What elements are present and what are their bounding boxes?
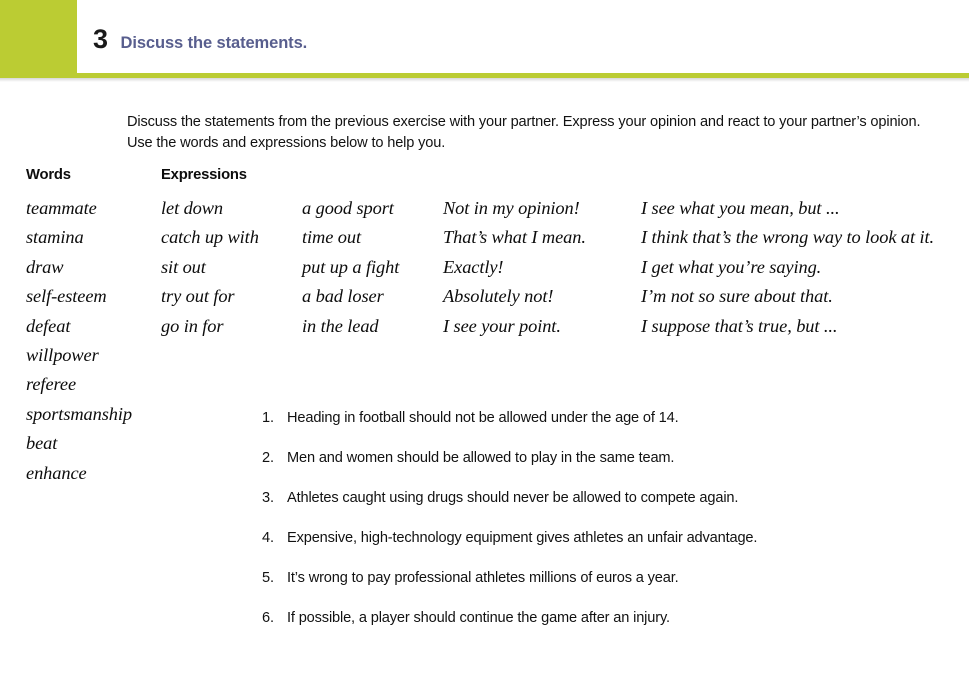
vocabulary-item: I think that’s the wrong way to look at … xyxy=(641,223,934,252)
vocabulary-item: I’m not so sure about that. xyxy=(641,282,934,311)
statement-text: Expensive, high-technology equipment giv… xyxy=(287,528,757,548)
vocabulary-item: referee xyxy=(26,370,132,399)
statement-text: It’s wrong to pay professional athletes … xyxy=(287,568,679,588)
vocabulary-item: teammate xyxy=(26,194,132,223)
statement-number: 4. xyxy=(262,528,287,548)
statement-text: If possible, a player should continue th… xyxy=(287,608,670,628)
vocabulary-item: I suppose that’s true, but ... xyxy=(641,312,934,341)
column-header-expressions: Expressions xyxy=(161,167,247,183)
vocabulary-item: Exactly! xyxy=(443,253,586,282)
vocabulary-column-expressions-1: let down catch up with sit out try out f… xyxy=(161,194,259,341)
vocabulary-column-words: teammate stamina draw self-esteem defeat… xyxy=(26,194,132,488)
vocabulary-item: enhance xyxy=(26,459,132,488)
vocabulary-item: sportsmanship xyxy=(26,400,132,429)
list-item: 3. Athletes caught using drugs should ne… xyxy=(262,488,969,528)
vocabulary-item: let down xyxy=(161,194,259,223)
column-header-words: Words xyxy=(26,167,71,183)
vocabulary-item: time out xyxy=(302,223,399,252)
exercise-heading: 3 Discuss the statements. xyxy=(93,24,307,55)
vocabulary-item: That’s what I mean. xyxy=(443,223,586,252)
vocabulary-item: sit out xyxy=(161,253,259,282)
statement-number: 2. xyxy=(262,448,287,468)
vocabulary-item: Not in my opinion! xyxy=(443,194,586,223)
green-accent-block xyxy=(0,0,77,73)
list-item: 2. Men and women should be allowed to pl… xyxy=(262,448,969,488)
statement-number: 6. xyxy=(262,608,287,628)
statement-number: 1. xyxy=(262,408,287,428)
vocabulary-column-expressions-4: I see what you mean, but ... I think tha… xyxy=(641,194,934,341)
vocabulary-item: try out for xyxy=(161,282,259,311)
list-item: 5. It’s wrong to pay professional athlet… xyxy=(262,568,969,608)
vocabulary-item: draw xyxy=(26,253,132,282)
statement-text: Heading in football should not be allowe… xyxy=(287,408,679,428)
statement-number: 5. xyxy=(262,568,287,588)
statements-list: 1. Heading in football should not be all… xyxy=(222,408,969,648)
vocabulary-item: a bad loser xyxy=(302,282,399,311)
vocabulary-item: go in for xyxy=(161,312,259,341)
vocabulary-item: I get what you’re saying. xyxy=(641,253,934,282)
vocabulary-item: beat xyxy=(26,429,132,458)
statement-number: 3. xyxy=(262,488,287,508)
vocabulary-item: self-esteem xyxy=(26,282,132,311)
vocabulary-column-expressions-3: Not in my opinion! That’s what I mean. E… xyxy=(443,194,586,341)
statement-text: Athletes caught using drugs should never… xyxy=(287,488,738,508)
statement-text: Men and women should be allowed to play … xyxy=(287,448,674,468)
vocabulary-item: I see your point. xyxy=(443,312,586,341)
vocabulary-item: catch up with xyxy=(161,223,259,252)
header-divider-shadow xyxy=(0,78,969,82)
vocabulary-item: Absolutely not! xyxy=(443,282,586,311)
list-item: 1. Heading in football should not be all… xyxy=(262,408,969,448)
exercise-number: 3 xyxy=(93,24,108,55)
exercise-title: Discuss the statements. xyxy=(121,34,308,53)
list-item: 6. If possible, a player should continue… xyxy=(262,608,969,648)
list-item: 4. Expensive, high-technology equipment … xyxy=(262,528,969,568)
vocabulary-item: I see what you mean, but ... xyxy=(641,194,934,223)
vocabulary-item: in the lead xyxy=(302,312,399,341)
vocabulary-item: defeat xyxy=(26,312,132,341)
vocabulary-item: stamina xyxy=(26,223,132,252)
exercise-header: 3 Discuss the statements. xyxy=(0,0,969,74)
vocabulary-item: put up a fight xyxy=(302,253,399,282)
vocabulary-item: a good sport xyxy=(302,194,399,223)
vocabulary-column-expressions-2: a good sport time out put up a fight a b… xyxy=(302,194,399,341)
vocabulary-item: willpower xyxy=(26,341,132,370)
vocabulary-column-headers: Words Expressions xyxy=(0,167,969,189)
instructions-paragraph: Discuss the statements from the previous… xyxy=(127,112,947,154)
